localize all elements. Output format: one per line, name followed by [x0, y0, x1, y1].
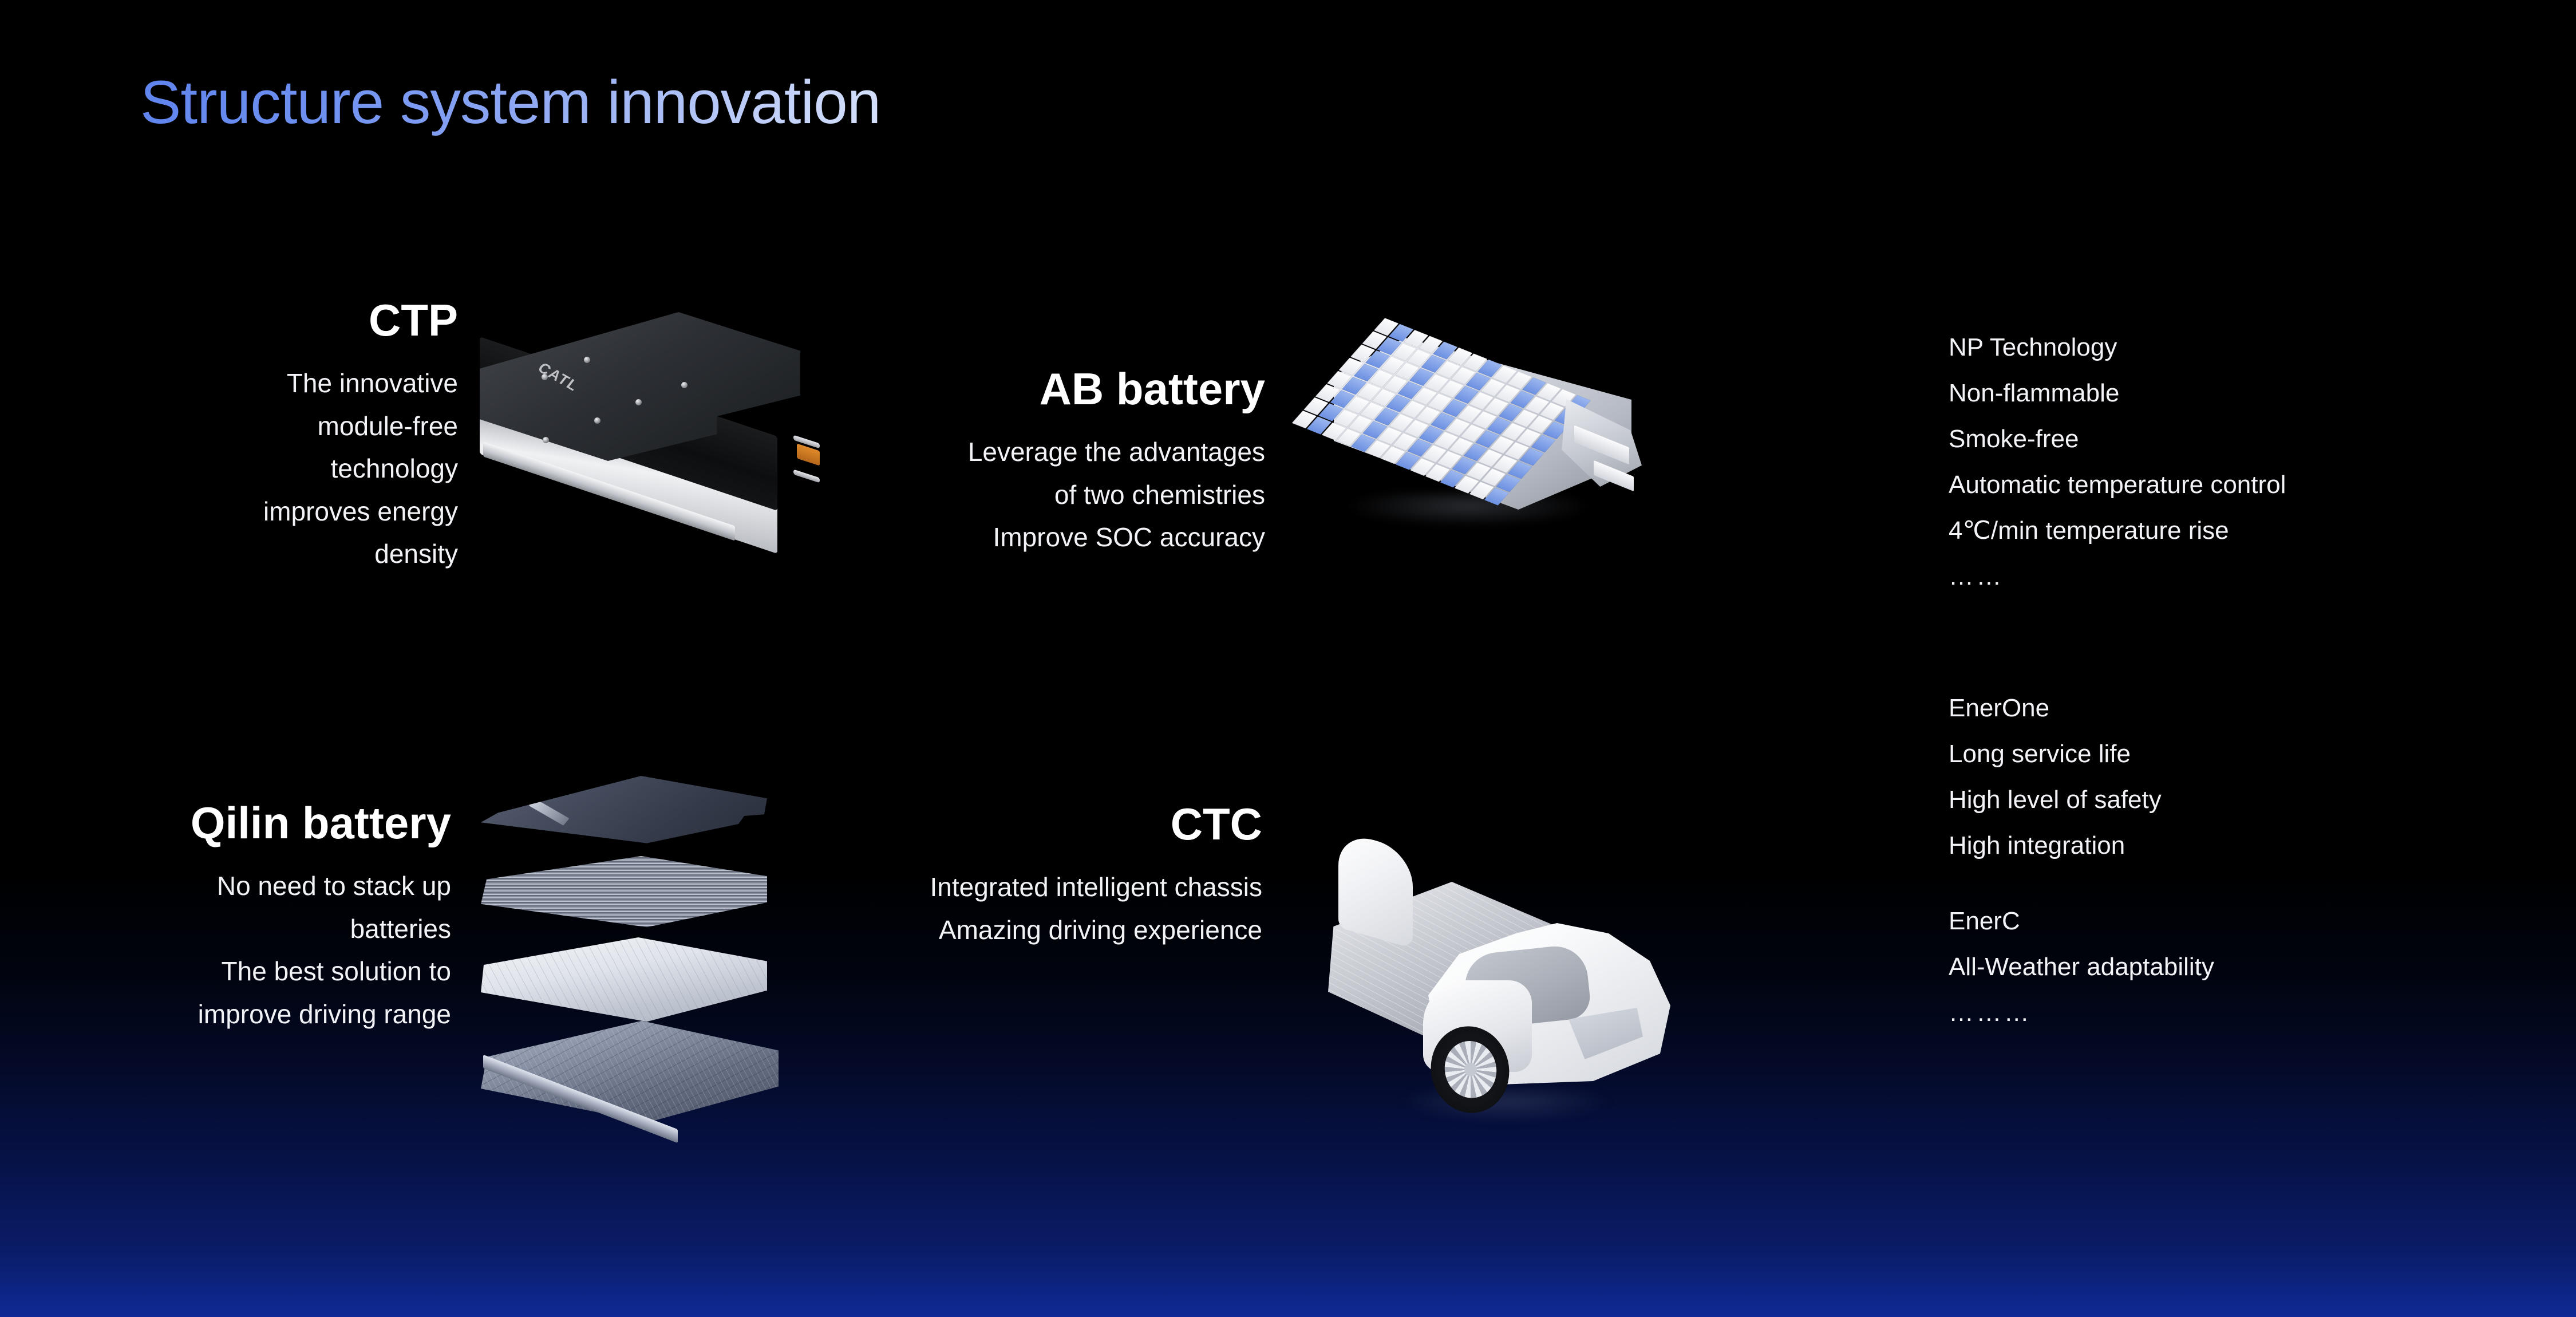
section-title-qilin-battery: Qilin battery [57, 801, 451, 845]
body-line: batteries [57, 908, 451, 951]
ctp-bolt [542, 374, 548, 380]
feature-item: 4℃/min temperature rise [1949, 518, 2286, 543]
feature-item: All-Weather adaptability [1949, 955, 2214, 980]
list-group-divider [1949, 879, 2214, 909]
catl-logo-emboss [528, 798, 569, 825]
feature-item: Non-flammable [1949, 381, 2286, 406]
body-line: density [57, 533, 458, 575]
feature-item-ellipsis: ……… [1949, 1000, 2214, 1026]
body-line: The innovative [57, 362, 458, 405]
body-line: technology [57, 447, 458, 490]
slide-canvas: Structure system innovation CTP The inno… [0, 0, 2576, 1317]
qilin-cooling-fin-layer [481, 856, 767, 933]
section-title-ctp: CTP [57, 298, 458, 342]
body-line: improve driving range [57, 993, 451, 1036]
ctc-chassis-vehicle-image [1328, 819, 1694, 1128]
feature-item: High integration [1949, 833, 2214, 858]
section-body-qilin-battery: No need to stack up batteries The best s… [57, 865, 451, 1035]
body-line: improves energy [57, 490, 458, 533]
feature-item: High level of safety [1949, 787, 2214, 813]
background-gradient [0, 0, 2576, 1317]
qilin-cell-layer [481, 937, 767, 1029]
ab-battery-tray-image [1334, 303, 1654, 544]
qilin-cell-grid-texture [481, 937, 767, 1029]
feature-item-ellipsis: …… [1949, 564, 2286, 589]
section-qilin-battery: Qilin battery No need to stack up batter… [57, 801, 451, 1035]
ab-drop-shadow [1345, 492, 1591, 527]
feature-item: Smoke-free [1949, 427, 2286, 452]
ctc-drop-shadow [1397, 1088, 1614, 1122]
ctp-bolt [635, 399, 642, 405]
ctp-bolt [584, 357, 590, 363]
qilin-battery-exploded-image [481, 776, 801, 1125]
ctp-terminal-pin [793, 470, 820, 483]
feature-list-np-technology: NP Technology Non-flammable Smoke-free A… [1949, 335, 2286, 589]
ctp-bolt [681, 382, 688, 388]
feature-list-energy-storage: EnerOne Long service life High level of … [1949, 696, 2214, 1026]
body-line: No need to stack up [57, 865, 451, 908]
section-body-ctp: The innovative module-free technology im… [57, 362, 458, 575]
feature-item: NP Technology [1949, 335, 2286, 360]
feature-item: Long service life [1949, 742, 2214, 767]
body-line: The best solution to [57, 950, 451, 993]
ctp-bolt [594, 417, 600, 424]
ctp-battery-pack-image: CATL [480, 312, 823, 541]
section-ctp: CTP The innovative module-free technolog… [57, 298, 458, 575]
feature-item: EnerC [1949, 909, 2214, 934]
body-line: module-free [57, 405, 458, 448]
ctp-bolt [543, 437, 549, 443]
feature-item: Automatic temperature control [1949, 472, 2286, 498]
page-title: Structure system innovation [140, 69, 880, 136]
ctc-wheel-rim [1440, 1036, 1502, 1103]
qilin-top-cover [481, 776, 767, 856]
feature-item: EnerOne [1949, 696, 2214, 721]
